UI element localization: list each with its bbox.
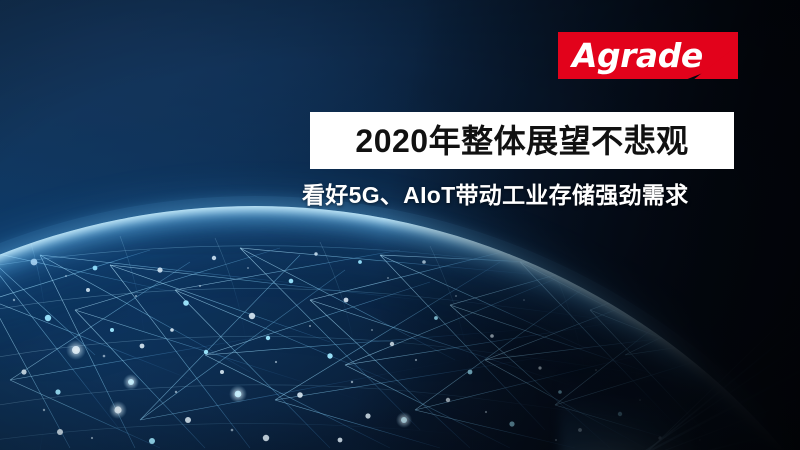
agrade-logo[interactable]: Agrade <box>558 32 738 79</box>
logo-wordmark: Agrade <box>572 38 703 71</box>
page-title: 2020年整体展望不悲观 <box>355 125 688 157</box>
title-slide: Agrade 2020年整体展望不悲观 看好5G、AIoT带动工业存储强劲需求 <box>0 0 800 450</box>
page-subtitle: 看好5G、AIoT带动工业存储强劲需求 <box>302 181 738 210</box>
title-banner: 2020年整体展望不悲观 <box>310 112 734 169</box>
